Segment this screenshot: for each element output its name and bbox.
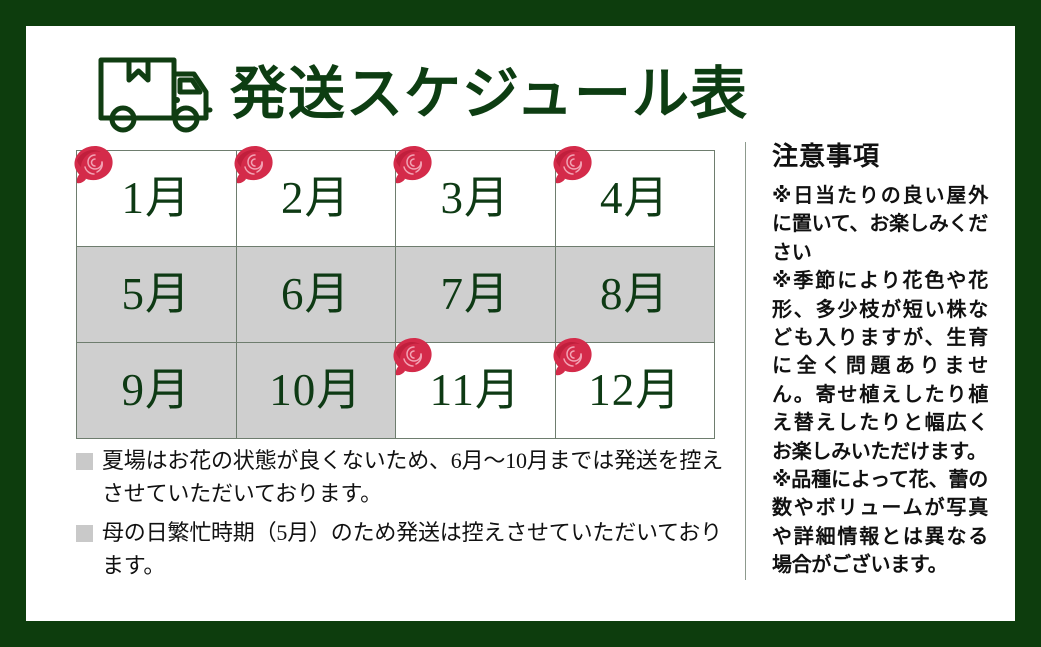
- month-label: 10月: [237, 343, 396, 438]
- month-cell[interactable]: 11月: [396, 343, 556, 439]
- content-panel: 発送スケジュール表 1月 2月 3月 4月: [26, 26, 1015, 621]
- vertical-divider: [745, 142, 746, 580]
- month-cell[interactable]: 5月: [77, 247, 237, 343]
- month-label: 4月: [556, 151, 715, 246]
- outer-green-frame: 発送スケジュール表 1月 2月 3月 4月: [0, 0, 1041, 647]
- page-title: 発送スケジュール表: [230, 66, 748, 123]
- gray-square-bullet-icon: [76, 525, 93, 542]
- delivery-truck-icon: [96, 50, 214, 138]
- month-label: 11月: [396, 343, 555, 438]
- month-cell[interactable]: 10月: [236, 343, 396, 439]
- table-row: 1月 2月 3月 4月: [77, 151, 715, 247]
- month-label: 2月: [237, 151, 396, 246]
- month-label: 12月: [556, 343, 715, 438]
- month-cell[interactable]: 12月: [555, 343, 715, 439]
- month-label: 7月: [396, 247, 555, 342]
- note-item: ※品種によって花、蕾の数やボリュームが写真や詳細情報とは異なる場合がございます。: [772, 466, 988, 580]
- footnote-item: 母の日繁忙時期（5月）のため発送は控えさせていただいております。: [76, 516, 736, 583]
- month-label: 6月: [237, 247, 396, 342]
- month-label: 8月: [556, 247, 715, 342]
- gray-square-bullet-icon: [76, 453, 93, 470]
- month-cell[interactable]: 3月: [396, 151, 556, 247]
- month-label: 5月: [77, 247, 236, 342]
- notes-heading: 注意事項: [772, 136, 988, 173]
- note-item: ※季節により花色や花形、多少枝が短い株なども入りますが、生育に全く問題ありません…: [772, 267, 988, 466]
- table-row: 5月 6月 7月 8月: [77, 247, 715, 343]
- month-label: 1月: [77, 151, 236, 246]
- month-label: 3月: [396, 151, 555, 246]
- table-row: 9月 10月 11月 12月: [77, 343, 715, 439]
- month-cell[interactable]: 2月: [236, 151, 396, 247]
- month-cell[interactable]: 7月: [396, 247, 556, 343]
- month-cell[interactable]: 1月: [77, 151, 237, 247]
- note-item: ※日当たりの良い屋外に置いて、お楽しみください: [772, 182, 988, 267]
- header: 発送スケジュール表: [96, 46, 796, 142]
- footnote-item: 夏場はお花の状態が良くないため、6月〜10月までは発送を控えさせていただいており…: [76, 444, 736, 511]
- month-cell[interactable]: 4月: [555, 151, 715, 247]
- footnote-text: 母の日繁忙時期（5月）のため発送は控えさせていただいております。: [102, 516, 736, 583]
- shipping-schedule-table: 1月 2月 3月 4月 5月: [76, 150, 715, 439]
- month-cell[interactable]: 8月: [555, 247, 715, 343]
- side-notes: 注意事項 ※日当たりの良い屋外に置いて、お楽しみください ※季節により花色や花形…: [772, 136, 988, 579]
- month-label: 9月: [77, 343, 236, 438]
- month-cell[interactable]: 6月: [236, 247, 396, 343]
- footnotes: 夏場はお花の状態が良くないため、6月〜10月までは発送を控えさせていただいており…: [76, 444, 736, 588]
- month-cell[interactable]: 9月: [77, 343, 237, 439]
- footnote-text: 夏場はお花の状態が良くないため、6月〜10月までは発送を控えさせていただいており…: [102, 444, 736, 511]
